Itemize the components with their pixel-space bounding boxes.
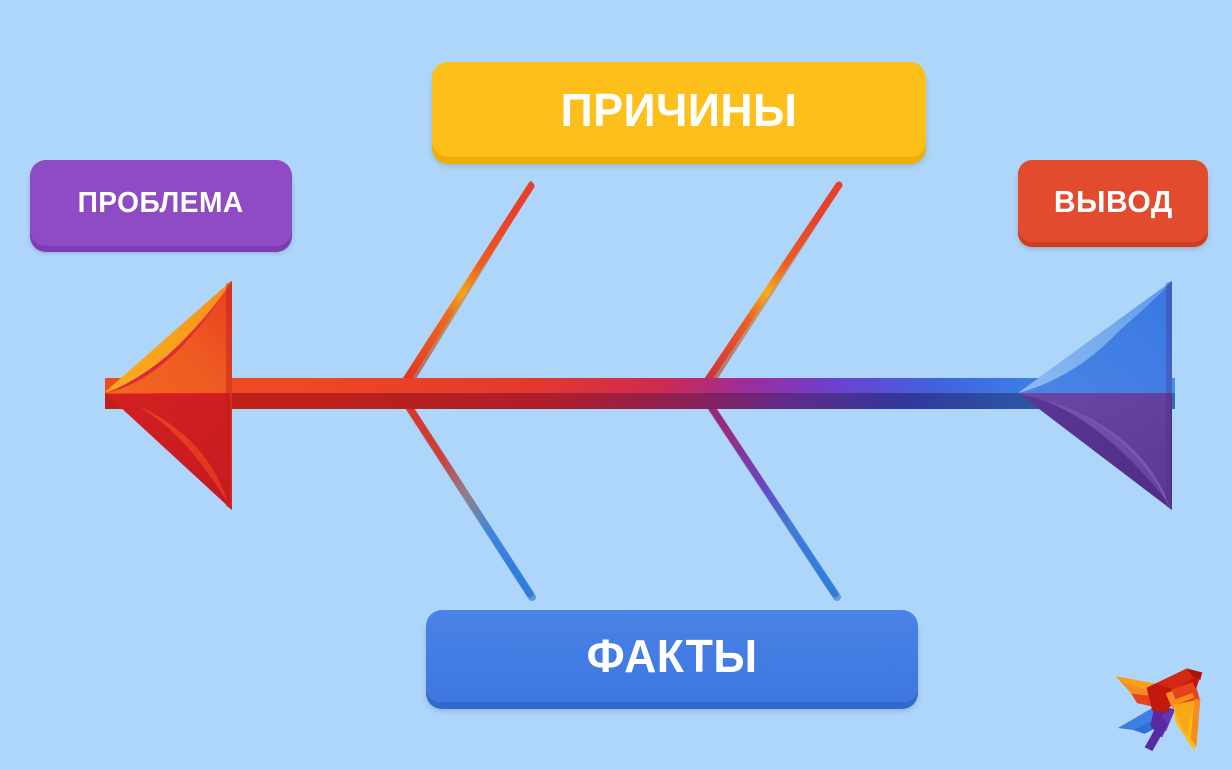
arrow-shaft bbox=[105, 378, 1175, 409]
bone-lower-right bbox=[704, 396, 837, 597]
label-chip-facts-text: ФАКТЫ bbox=[587, 633, 758, 679]
diagram-canvas: — — — bbox=[0, 0, 1232, 770]
label-chip-causes-text: ПРИЧИНЫ bbox=[561, 87, 798, 133]
bone-upper-right bbox=[702, 182, 842, 392]
arrow-head-left bbox=[105, 281, 232, 510]
label-chip-conclusion[interactable]: ВЫВОД bbox=[1018, 160, 1208, 242]
label-chip-problem-text: ПРОБЛЕМА bbox=[78, 189, 244, 218]
label-chip-causes[interactable]: ПРИЧИНЫ bbox=[432, 62, 926, 157]
bone-lower-left bbox=[402, 396, 532, 597]
bone-upper-left bbox=[399, 181, 534, 392]
label-chip-problem[interactable]: ПРОБЛЕМА bbox=[30, 160, 292, 246]
arrow-tail-right bbox=[1018, 281, 1172, 510]
label-chip-facts[interactable]: ФАКТЫ bbox=[426, 610, 918, 702]
swallow-bird-logo[interactable] bbox=[1112, 655, 1208, 755]
label-chip-conclusion-text: ВЫВОД bbox=[1054, 186, 1173, 217]
